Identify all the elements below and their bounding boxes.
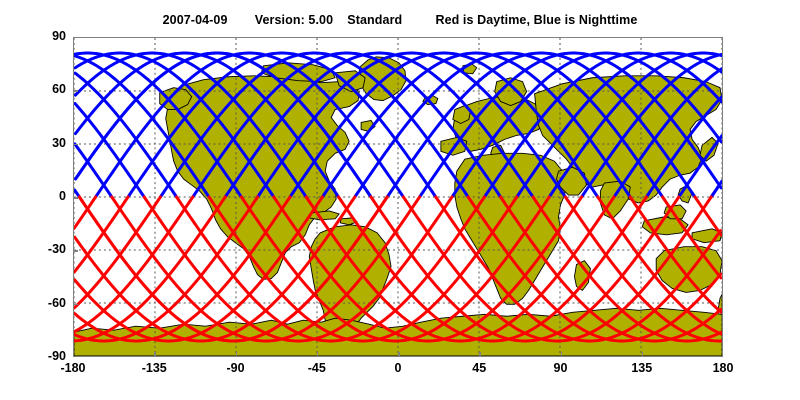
y-tick-label-0: 0 [18,189,66,203]
x-tick-mark [642,352,644,357]
title-legend: Red is Daytime, Blue is Nighttime [435,13,637,27]
orbit-track-layer [74,38,722,356]
x-tick-label-neg180: -180 [43,361,103,375]
x-tick-label-neg45: -45 [287,361,347,375]
chart-title: 2007-04-09 Version: 5.00 Standard Red is… [0,13,800,27]
x-tick-mark [561,352,563,357]
orbit-track-descending-18 [663,197,721,278]
x-tick-mark [154,352,156,357]
plot-area [73,37,723,357]
orbit-track-ascending-15 [549,53,721,197]
title-mode: Standard [347,13,402,27]
orbit-track-ascending-19 [679,136,722,197]
orbit-track-descending-11-b [74,197,96,228]
title-version: Version: 5.00 [255,13,333,27]
x-tick-mark [236,352,238,357]
y-tick-label-neg60: -60 [18,296,66,310]
orbit-track-ascending-13-b [75,103,144,197]
x-tick-label-neg90: -90 [206,361,266,375]
x-tick-label-45: 45 [449,361,509,375]
x-tick-label-180: 180 [693,361,753,375]
x-tick-mark [398,352,400,357]
orbit-track-descending-16-b [74,197,257,341]
plot-inner [74,38,722,356]
daytime-tracks [74,197,721,341]
y-tick-mark [73,197,78,199]
orbit-track-descending-19-b [75,197,355,341]
y-tick-label-neg30: -30 [18,242,66,256]
y-tick-label-90: 90 [18,29,66,43]
title-date: 2007-04-09 [163,13,228,27]
y-tick-label-60: 60 [18,82,66,96]
x-tick-mark [317,352,319,357]
orbit-track-descending-12-b [74,197,128,272]
y-tick-mark [73,144,78,146]
y-tick-mark [73,304,78,306]
x-tick-label-135: 135 [612,361,672,375]
figure-canvas: 2007-04-09 Version: 5.00 Standard Red is… [0,0,800,400]
x-tick-label-neg135: -135 [124,361,184,375]
x-tick-label-0: 0 [368,361,428,375]
nighttime-tracks [75,53,722,197]
x-tick-label-90: 90 [531,361,591,375]
x-tick-mark [479,352,481,357]
y-tick-mark [73,90,78,92]
y-tick-mark [73,250,78,252]
orbit-track-ascending-16 [582,54,722,197]
y-tick-label-30: 30 [18,136,66,150]
